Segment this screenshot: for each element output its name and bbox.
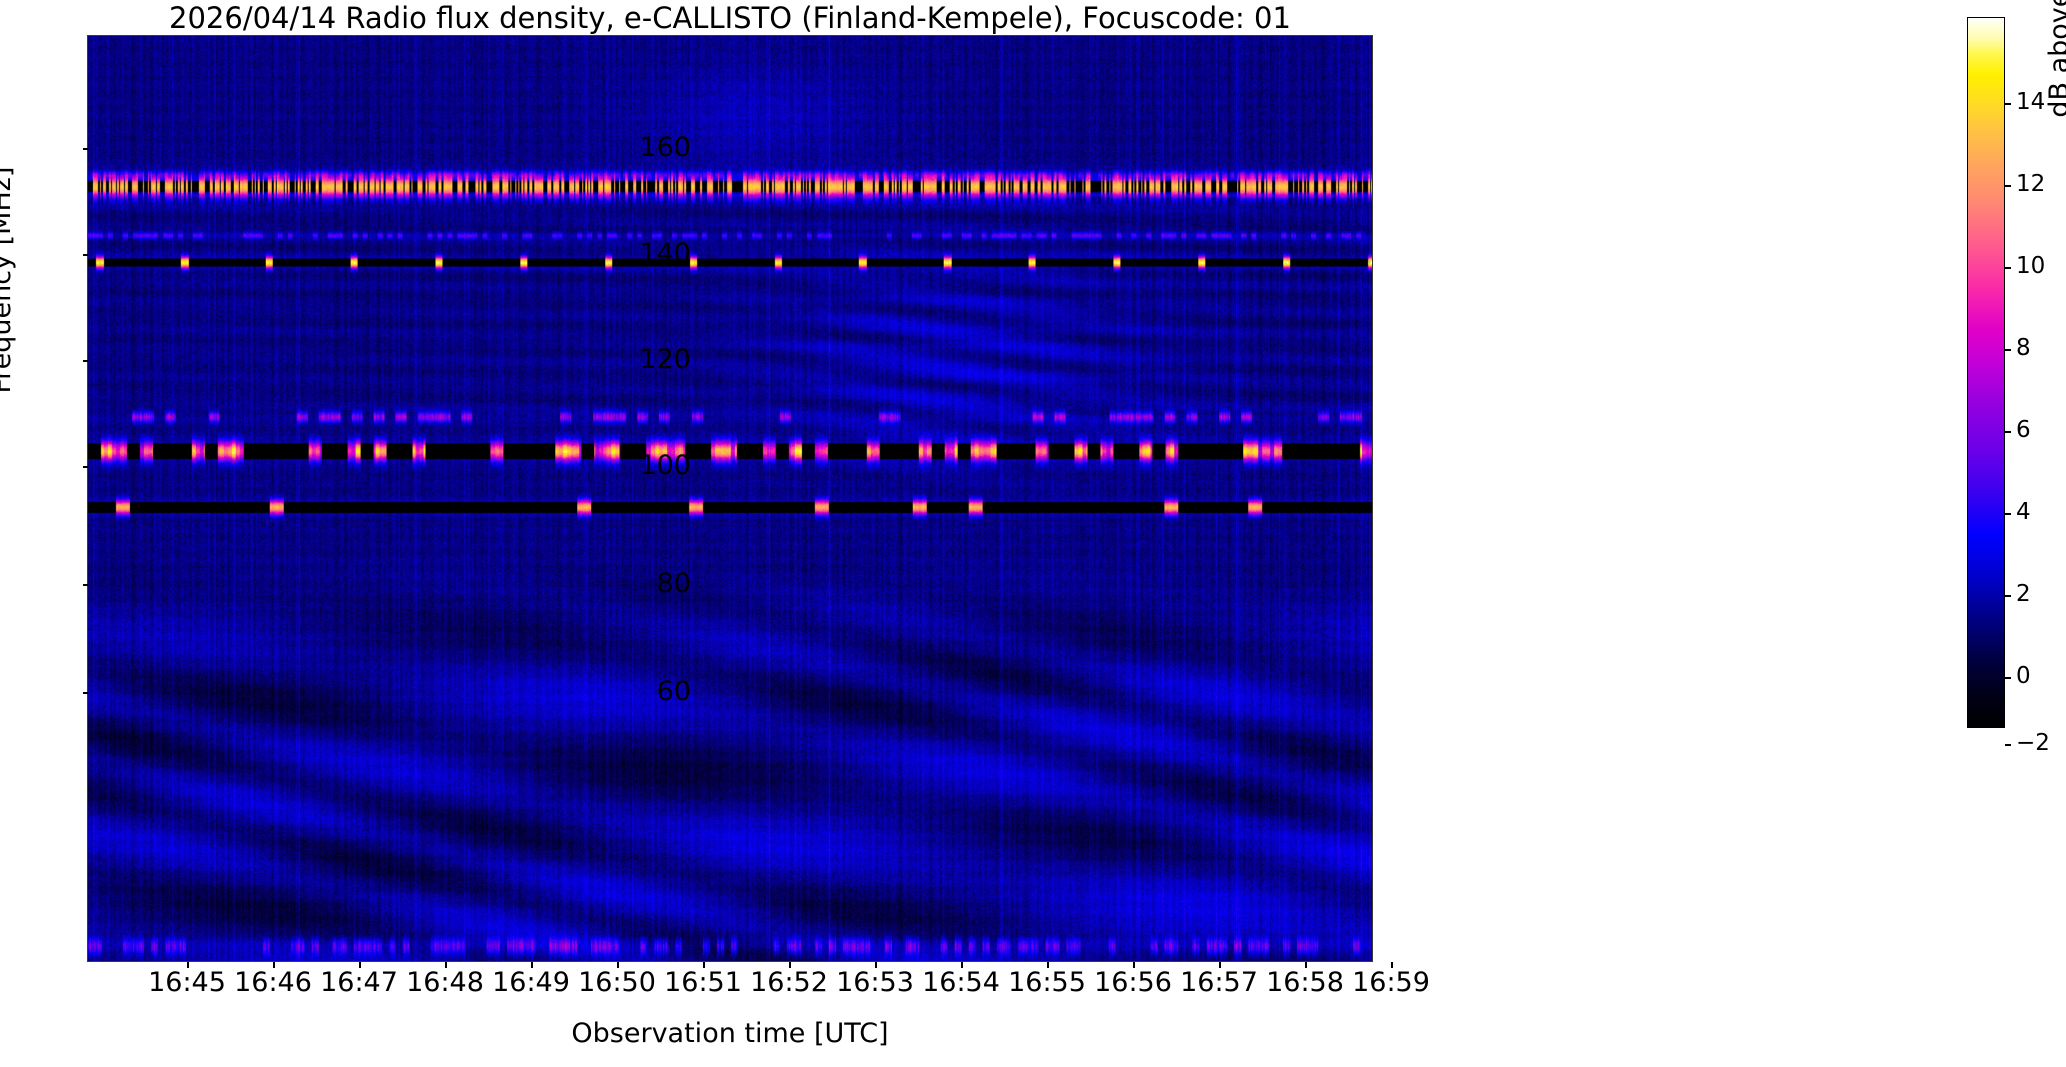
chart-title: 2026/04/14 Radio flux density, e-CALLIST… [87,2,1373,35]
colorbar-tick-mark [2005,595,2011,597]
colorbar-tick-mark [2005,349,2011,351]
y-tick-mark [83,254,88,256]
y-tick-mark [83,692,88,694]
x-tick-mark [1219,962,1221,968]
y-tick-label: 120 [571,346,691,373]
y-tick-label: 60 [571,678,691,705]
colorbar-tick-label: 10 [2016,255,2045,278]
y-tick-label: 160 [571,134,691,161]
colorbar-tick-mark [2005,267,2011,269]
y-tick-mark [83,584,88,586]
colorbar-tick-mark [2005,513,2011,515]
y-tick-mark [83,360,88,362]
spectrogram-plot-area [87,35,1373,962]
x-tick-label: 16:59 [1331,968,1451,998]
x-tick-mark [875,962,877,968]
x-tick-mark [1391,962,1393,968]
colorbar-tick-label: −2 [2016,732,2050,755]
x-tick-mark [617,962,619,968]
colorbar-tick-label: 12 [2016,173,2045,196]
colorbar-tick-label: 4 [2016,501,2031,524]
x-tick-mark [445,962,447,968]
x-tick-mark [1047,962,1049,968]
colorbar-tick-label: 14 [2016,91,2045,114]
y-axis-label: Frequency [MHz] [0,130,17,430]
y-tick-mark [83,466,88,468]
y-tick-label: 140 [571,240,691,267]
y-tick-label: 80 [571,570,691,597]
colorbar-tick-mark [2005,185,2011,187]
colorbar [1967,17,2005,728]
colorbar-tick-mark [2005,431,2011,433]
colorbar-tick-mark [2005,677,2011,679]
x-tick-mark [187,962,189,968]
x-tick-mark [1305,962,1307,968]
colorbar-tick-label: 8 [2016,337,2031,360]
x-axis-label: Observation time [UTC] [87,1018,1373,1049]
x-tick-mark [1133,962,1135,968]
x-tick-mark [789,962,791,968]
x-tick-mark [703,962,705,968]
colorbar-tick-label: 6 [2016,419,2031,442]
x-tick-mark [273,962,275,968]
spectrogram-image [88,36,1372,961]
colorbar-label: dB above background [2044,0,2066,200]
colorbar-tick-label: 2 [2016,583,2031,606]
x-tick-mark [961,962,963,968]
y-tick-label: 100 [571,452,691,479]
x-tick-mark [531,962,533,968]
x-tick-mark [359,962,361,968]
colorbar-tick-mark [2005,744,2011,746]
colorbar-tick-label: 0 [2016,665,2031,688]
colorbar-tick-mark [2005,103,2011,105]
y-tick-mark [83,148,88,150]
